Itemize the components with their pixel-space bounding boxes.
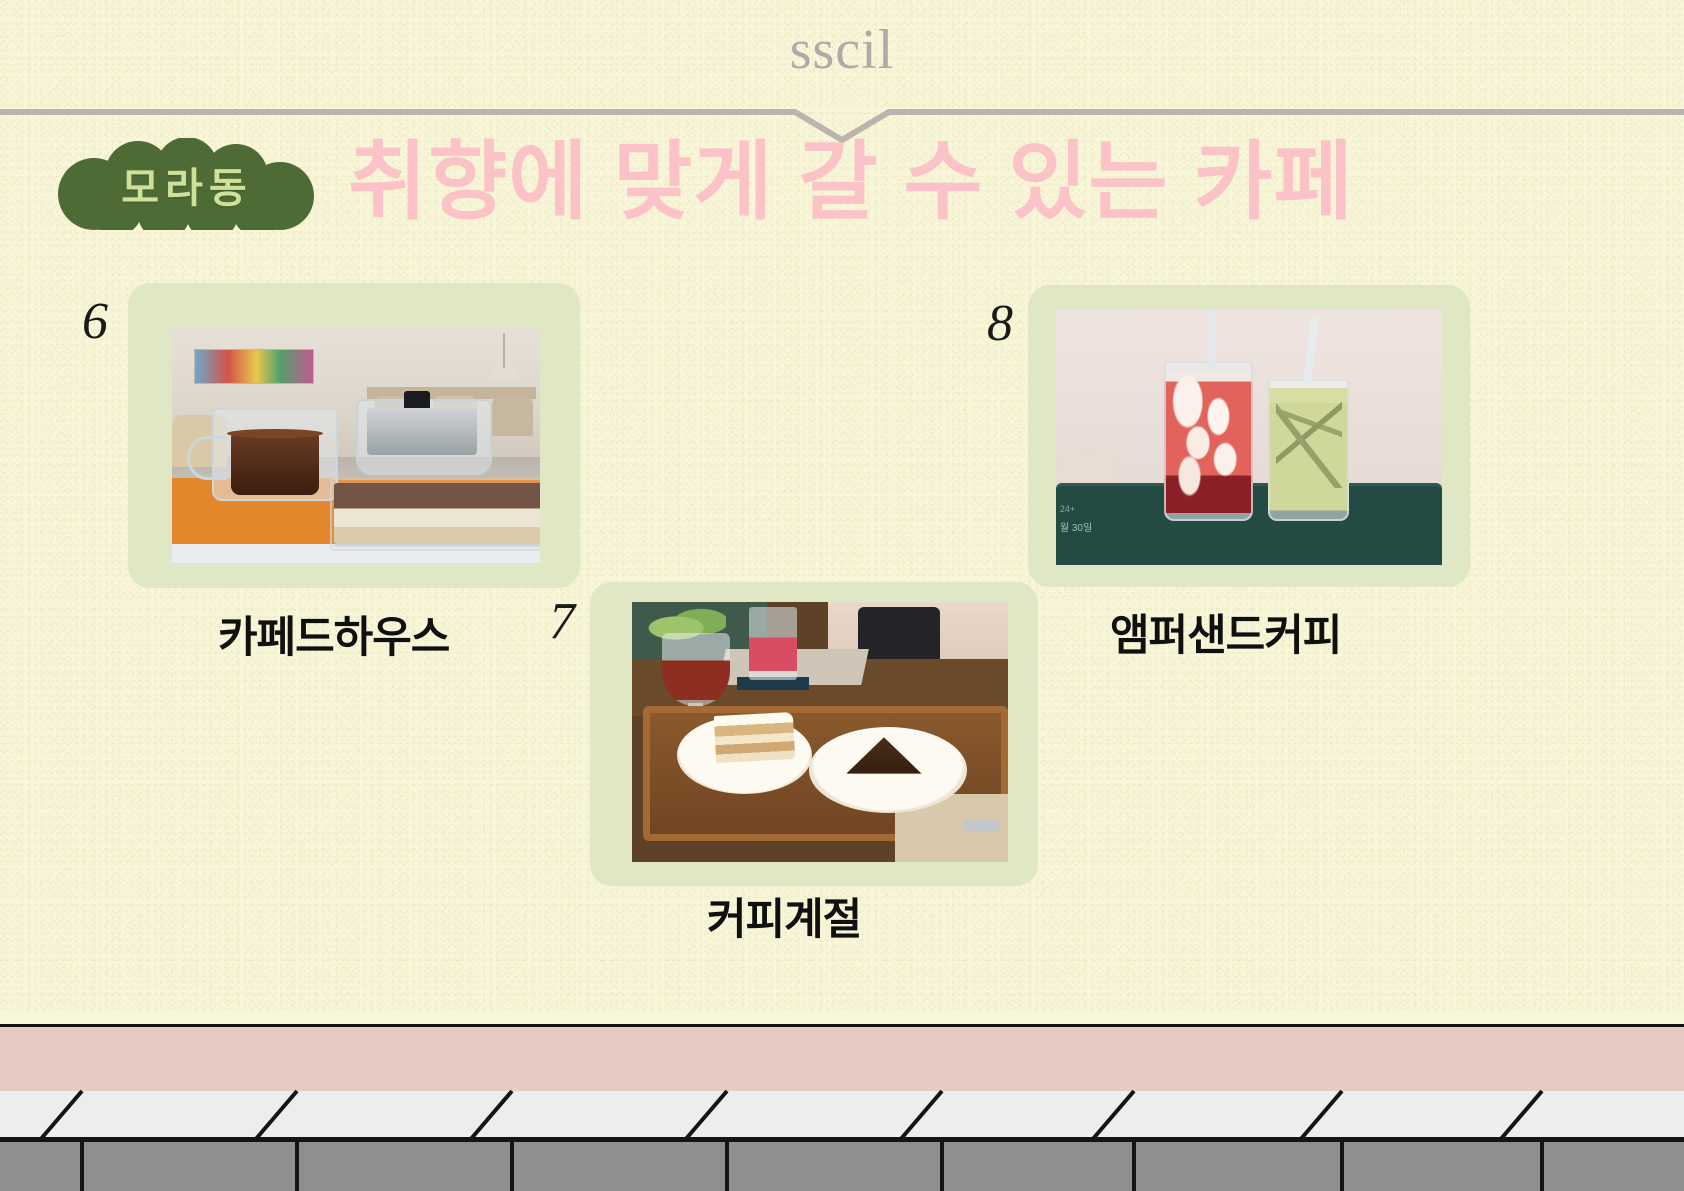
card-photo-3: 24+ 월 30일 xyxy=(1056,310,1442,565)
bottom-gap xyxy=(0,1010,1684,1024)
card-caption-2: 커피계절 xyxy=(707,885,861,947)
slide-canvas: sscil 모라동 취향에 맞게 xyxy=(0,0,1684,1191)
bottom-decoration xyxy=(0,1010,1684,1191)
photo-overlay-line-1: 24+ xyxy=(1060,504,1075,514)
photo-overlay-line-2: 월 30일 xyxy=(1060,519,1092,534)
card-caption-1: 카페드하우스 xyxy=(218,603,449,665)
bottom-pink-band xyxy=(0,1024,1684,1097)
badge-label: 모라동 xyxy=(52,138,322,230)
brand-wordmark: sscil xyxy=(0,18,1684,82)
card-photo-2 xyxy=(632,602,1008,862)
card-photo-1 xyxy=(172,328,540,563)
title-row: 모라동 취향에 맞게 갈 수 있는 카페 xyxy=(0,133,1684,243)
neighborhood-badge: 모라동 xyxy=(52,138,322,230)
card-caption-3: 앰퍼샌드커피 xyxy=(1110,601,1341,663)
card-number-1: 6 xyxy=(82,292,108,351)
card-number-3: 8 xyxy=(987,294,1013,353)
page-title: 취향에 맞게 갈 수 있는 카페 xyxy=(348,129,1354,237)
card-number-2: 7 xyxy=(549,592,575,651)
pavement-tile-lines-icon xyxy=(0,1088,1684,1191)
